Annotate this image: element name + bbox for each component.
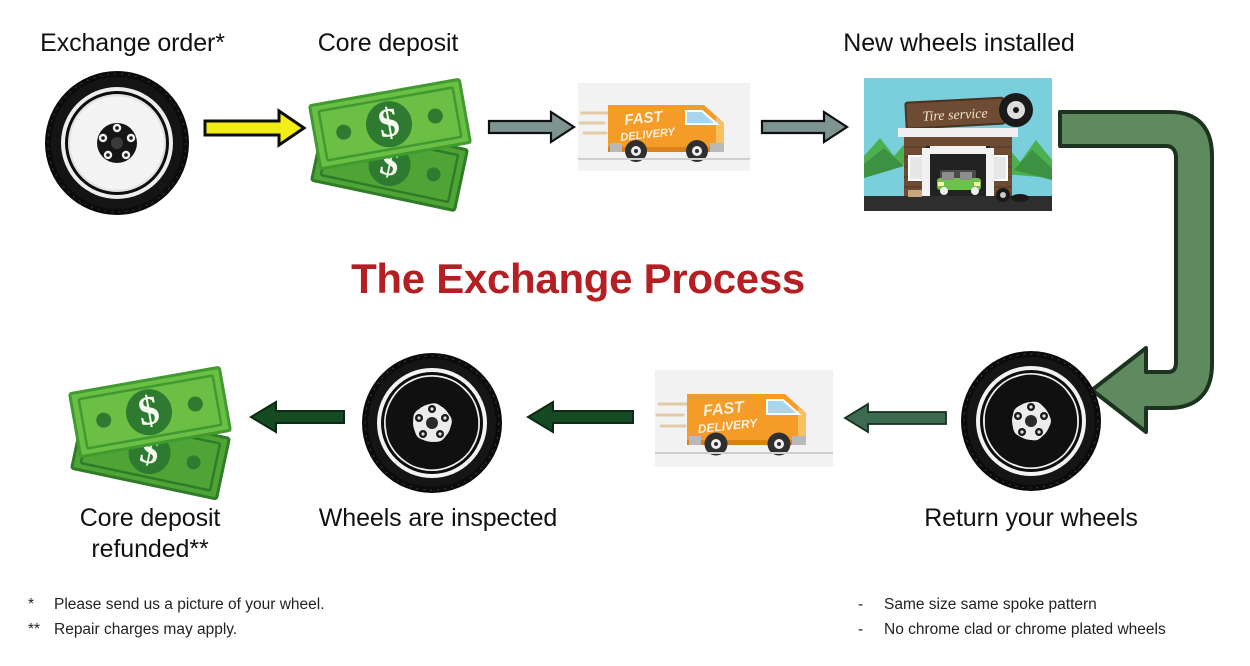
arrow-shipping-back-to-inspect (525, 400, 635, 434)
footnote-right-2-marker: - (858, 617, 884, 642)
arrow-order-to-deposit (203, 108, 307, 148)
label-core-deposit-refunded-line2: refunded** (35, 534, 265, 565)
footnote-left-2-marker: ** (28, 617, 54, 642)
footnote-left-1-text: Please send us a picture of your wheel. (54, 596, 325, 613)
label-core-deposit: Core deposit (288, 28, 488, 59)
icon-wheels-inspected (355, 352, 510, 494)
label-new-wheels-installed: New wheels installed (806, 28, 1112, 59)
footnote-right-1: -Same size same spoke pattern (858, 592, 1166, 617)
footnote-left-1-marker: * (28, 592, 54, 617)
icon-shipping-out-van: FAST DELIVERY (578, 83, 750, 171)
arrow-right-slate-icon (487, 110, 577, 144)
alloy-wheel-silver-icon (355, 352, 510, 494)
arrow-right-yellow-icon (203, 108, 307, 148)
footnote-right-2: -No chrome clad or chrome plated wheels (858, 617, 1166, 642)
alloy-wheel-silver-icon (955, 350, 1107, 492)
footnote-left-1: *Please send us a picture of your wheel. (28, 592, 325, 617)
footnotes-right: -Same size same spoke pattern -No chrome… (858, 592, 1166, 642)
icon-tire-service-shop: Tire service (864, 78, 1052, 211)
footnotes-left: *Please send us a picture of your wheel.… (28, 592, 325, 642)
arrow-deposit-to-shipping (487, 110, 577, 144)
label-return-your-wheels: Return your wheels (900, 503, 1162, 534)
arrow-inspect-to-refund (248, 400, 346, 434)
fast-delivery-van-icon: FAST DELIVERY (578, 83, 750, 171)
arrow-shipping-to-install (760, 110, 850, 144)
fast-delivery-van-icon: FAST DELIVERY (655, 370, 833, 467)
icon-shipping-back-van: FAST DELIVERY (655, 370, 833, 467)
arrow-left-darkgreen-icon (525, 400, 635, 434)
icon-return-your-wheels (955, 350, 1107, 492)
dollar-bills-icon: $ $ (58, 352, 242, 494)
label-core-deposit-refunded: Core deposit refunded** (35, 503, 265, 565)
arrow-left-green-icon (842, 402, 948, 434)
footnote-right-2-text: No chrome clad or chrome plated wheels (884, 621, 1166, 638)
footnote-left-2-text: Repair charges may apply. (54, 621, 237, 638)
arrow-left-darkgreen-icon (248, 400, 346, 434)
icon-core-deposit-money: $ $ (300, 66, 480, 206)
icon-exchange-order-wheel (35, 70, 200, 216)
dollar-bills-icon: $ $ (300, 66, 480, 206)
arrow-right-slate-icon (760, 110, 850, 144)
arrow-return-to-shipping-back (842, 402, 948, 434)
label-wheels-inspected: Wheels are inspected (288, 503, 588, 534)
icon-core-deposit-refunded-money: $ $ (58, 352, 242, 494)
exchange-process-diagram: Exchange order* Core deposit New wheels … (0, 0, 1250, 666)
footnote-left-2: **Repair charges may apply. (28, 617, 325, 642)
page-title: The Exchange Process (278, 255, 878, 303)
footnote-right-1-text: Same size same spoke pattern (884, 596, 1097, 613)
alloy-wheel-dark-icon (35, 70, 200, 216)
label-core-deposit-refunded-line1: Core deposit (35, 503, 265, 534)
tire-service-shop-icon: Tire service (864, 78, 1052, 211)
footnote-right-1-marker: - (858, 592, 884, 617)
label-exchange-order: Exchange order* (10, 28, 255, 59)
